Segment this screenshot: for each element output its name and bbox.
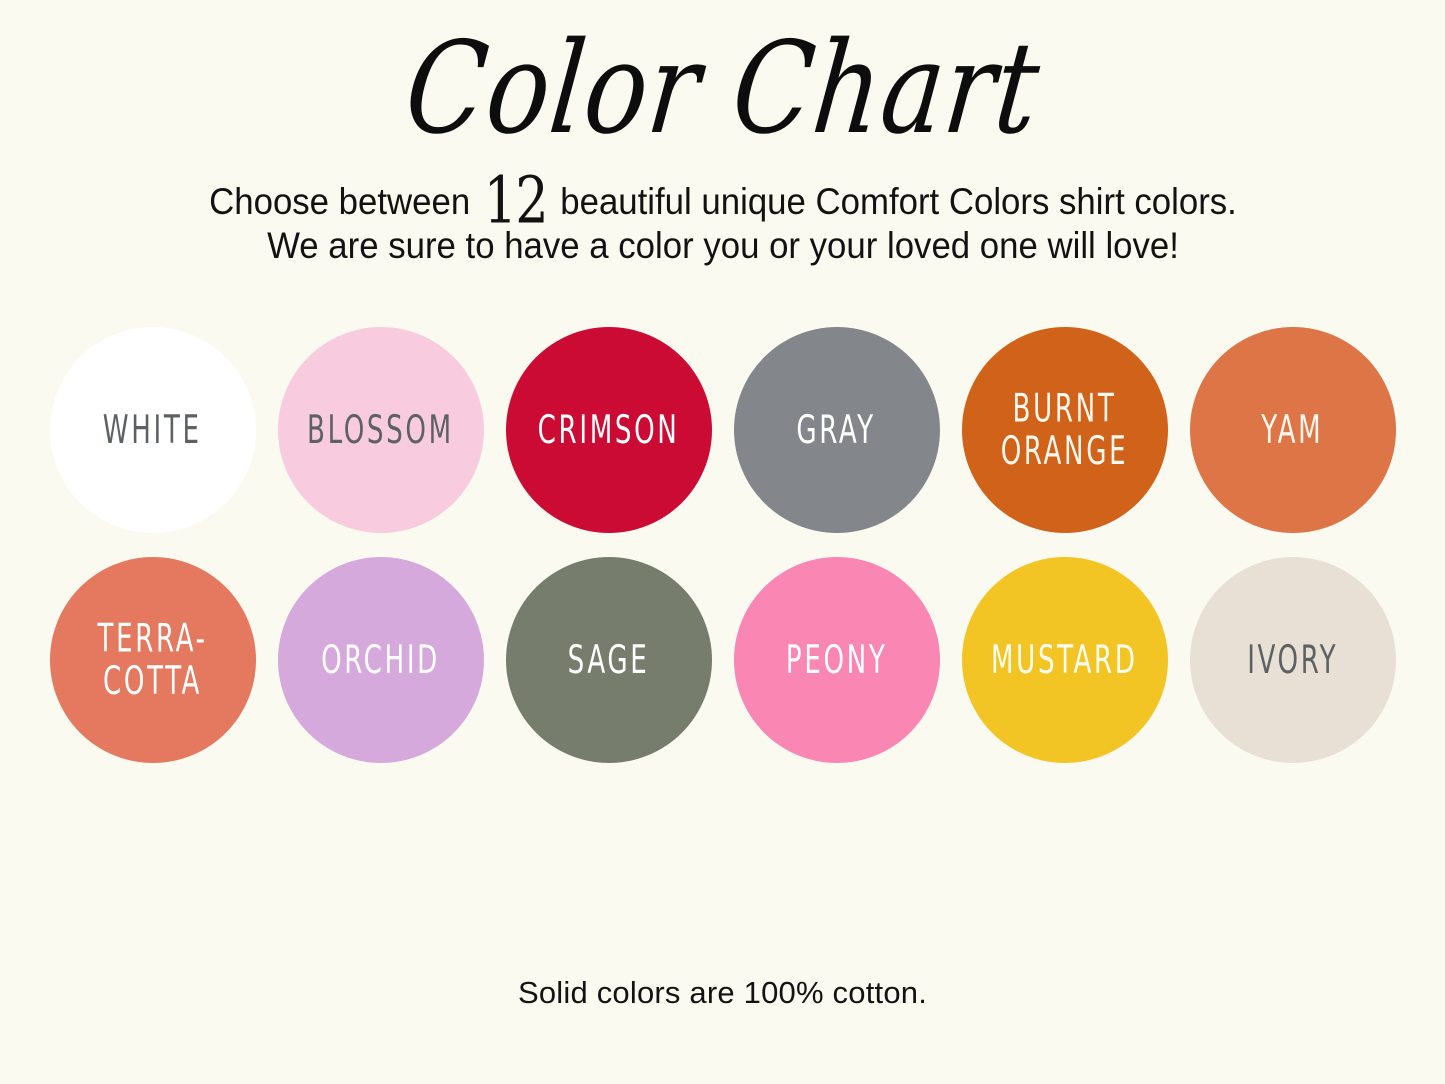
swatch-white[interactable]: WHITE: [50, 327, 256, 533]
swatch-mustard[interactable]: MUSTARD: [962, 557, 1168, 763]
swatch-label: ORCHID: [316, 639, 445, 681]
swatch-label: MUSTARD: [986, 639, 1143, 681]
swatch-yam[interactable]: YAM: [1190, 327, 1396, 533]
swatch-terra-cotta[interactable]: TERRA- COTTA: [50, 557, 256, 763]
swatch-label: TERRA- COTTA: [92, 618, 213, 703]
page-title: Color Chart: [400, 25, 1045, 152]
swatch-label: BLOSSOM: [302, 409, 459, 451]
swatch-label: PEONY: [780, 639, 892, 681]
subtitle: Choose between 12 beautiful unique Comfo…: [103, 180, 1343, 268]
swatch-peony[interactable]: PEONY: [734, 557, 940, 763]
swatch-label: YAM: [1256, 409, 1329, 451]
swatch-grid: WHITE BLOSSOM CRIMSON GRAY BURNT ORANGE …: [43, 324, 1403, 766]
title-container: Color Chart: [0, 18, 1445, 158]
swatch-label: IVORY: [1242, 639, 1344, 681]
subtitle-line-1: Choose between 12 beautiful unique Comfo…: [140, 180, 1306, 224]
swatch-blossom[interactable]: BLOSSOM: [278, 327, 484, 533]
subtitle-line-2: We are sure to have a color you or your …: [140, 224, 1306, 268]
swatch-burnt-orange[interactable]: BURNT ORANGE: [962, 327, 1168, 533]
swatch-sage[interactable]: SAGE: [506, 557, 712, 763]
footer-note: Solid colors are 100% cotton.: [0, 975, 1445, 1011]
swatch-gray[interactable]: GRAY: [734, 327, 940, 533]
subtitle-line-1-after: beautiful unique Comfort Colors shirt co…: [560, 181, 1237, 222]
swatch-label: BURNT ORANGE: [995, 388, 1133, 473]
swatch-label: WHITE: [98, 409, 207, 451]
subtitle-line-1-before: Choose between: [209, 181, 470, 222]
color-chart-page: Color Chart Choose between 12 beautiful …: [0, 0, 1445, 1084]
swatch-label: GRAY: [792, 409, 882, 451]
swatch-ivory[interactable]: IVORY: [1190, 557, 1396, 763]
swatch-crimson[interactable]: CRIMSON: [506, 327, 712, 533]
swatch-label: CRIMSON: [532, 409, 684, 451]
swatch-orchid[interactable]: ORCHID: [278, 557, 484, 763]
swatch-label: SAGE: [562, 639, 654, 681]
